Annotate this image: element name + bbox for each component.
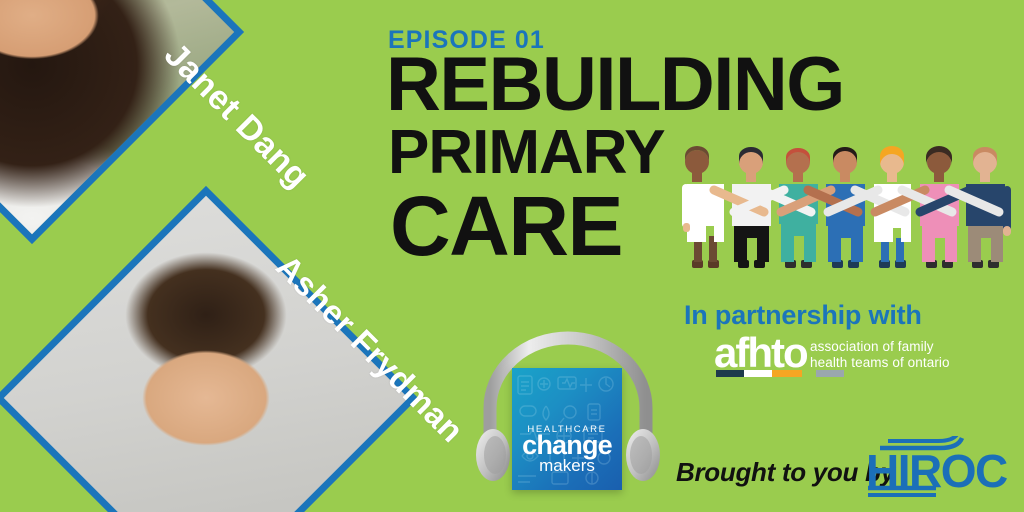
afhto-tagline-line-2: health teams of ontario (810, 355, 950, 370)
hiroc-logo-wordmark: HIROC (866, 448, 1007, 494)
podcast-cover-artwork: HEALTHCARE change makers (468, 322, 668, 512)
figure-doctor-lab-coat (682, 146, 724, 268)
partnership-lead-text: In partnership with (684, 300, 922, 331)
afhto-tagline-line-1: association of family (810, 339, 934, 354)
afhto-logo: afhto association of family health teams… (714, 336, 1014, 382)
hiroc-logo: HIROC (866, 436, 1018, 498)
page-title-line-1: REBUILDING (386, 52, 844, 119)
podcast-episode-poster: Janet Dang Asher Frydman EPISODE 01 REBU… (0, 0, 1024, 512)
afhto-logo-tagline: association of family health teams of on… (810, 339, 950, 372)
page-title-line-2: PRIMARY (388, 126, 665, 181)
afhto-logo-wordmark: afhto (714, 332, 807, 374)
page-title-line-3: CARE (390, 190, 622, 264)
healthcare-workers-illustration (668, 138, 1018, 286)
podcast-cover-square: HEALTHCARE change makers (512, 368, 622, 490)
sponsor-lead-text: Brought to you by (676, 457, 895, 488)
cover-title-change: change (512, 433, 622, 458)
cover-title-block: HEALTHCARE change makers (512, 424, 622, 474)
guest-name-label-1: Janet Dang (156, 36, 317, 197)
